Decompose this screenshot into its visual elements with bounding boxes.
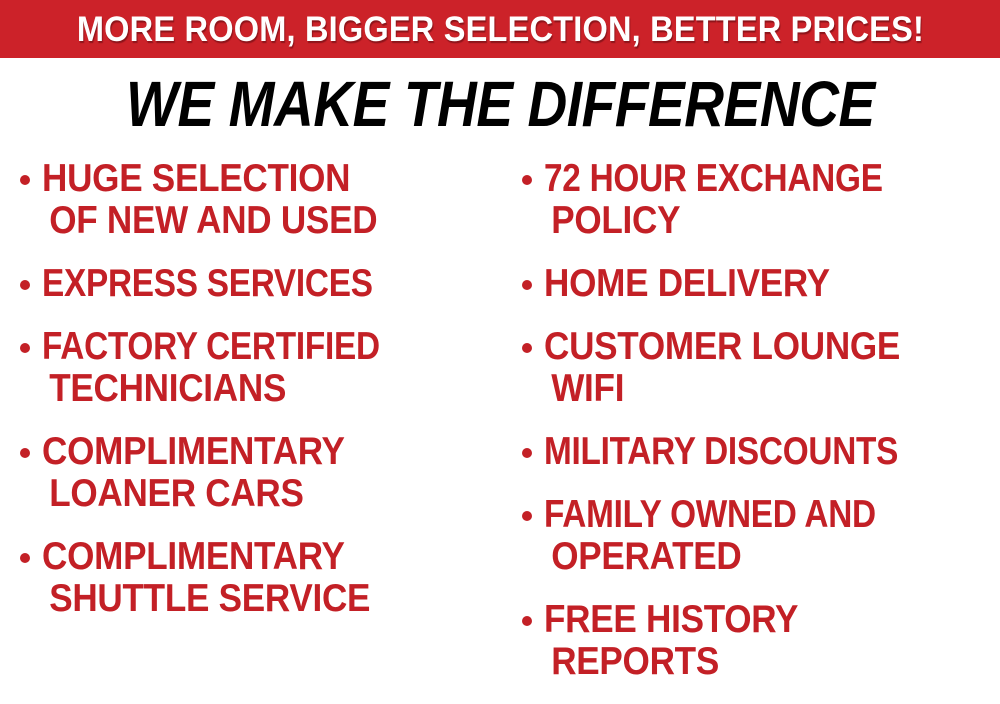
bullet-dot-icon [522,343,532,353]
benefit-item-text: EXPRESS SERVICES [42,263,500,305]
benefit-line: OPERATED [544,536,954,578]
bullet-dot-icon [522,175,532,185]
page-title: WE MAKE THE DIFFERENCE [126,72,875,136]
bullet-dot-icon [20,448,30,458]
benefit-line: CUSTOMER LOUNGE [544,326,954,368]
bullet-dot-icon [20,280,30,290]
promo-banner-text: MORE ROOM, BIGGER SELECTION, BETTER PRIC… [76,12,923,47]
benefit-line: FACTORY CERTIFIED [42,326,434,368]
benefit-item: EXPRESS SERVICES [20,263,500,305]
benefit-item-text: CUSTOMER LOUNGEWIFI [544,326,1000,410]
benefit-line: EXPRESS SERVICES [42,263,434,305]
bullet-dot-icon [522,616,532,626]
benefit-line: FAMILY OWNED AND [544,494,934,536]
benefit-line: TECHNICIANS [42,368,454,410]
benefit-item-text: 72 HOUR EXCHANGEPOLICY [544,158,1000,242]
benefit-line: FREE HISTORY [544,599,954,641]
benefit-line: WIFI [544,368,954,410]
benefits-columns: HUGE SELECTIONOF NEW AND USEDEXPRESS SER… [0,158,1000,694]
benefit-line: SHUTTLE SERVICE [42,578,454,620]
benefit-line: LOANER CARS [42,473,454,515]
benefit-item-text: HUGE SELECTIONOF NEW AND USED [42,158,500,242]
bullet-dot-icon [20,343,30,353]
benefit-line: HOME DELIVERY [544,263,954,305]
benefit-item-text: COMPLIMENTARYSHUTTLE SERVICE [42,536,500,620]
benefit-item: COMPLIMENTARYSHUTTLE SERVICE [20,536,500,620]
benefit-line: 72 HOUR EXCHANGE [544,158,934,200]
headline-container: WE MAKE THE DIFFERENCE [0,68,1000,140]
benefit-line: REPORTS [544,641,954,683]
benefit-line: OF NEW AND USED [42,200,454,242]
benefit-item-text: MILITARY DISCOUNTS [544,431,1000,473]
benefit-item: HOME DELIVERY [522,263,1000,305]
bullet-dot-icon [522,511,532,521]
benefits-column-left: HUGE SELECTIONOF NEW AND USEDEXPRESS SER… [0,158,500,641]
benefit-line: HUGE SELECTION [42,158,454,200]
benefit-item: MILITARY DISCOUNTS [522,431,1000,473]
benefit-item-text: HOME DELIVERY [544,263,1000,305]
benefit-item-text: FREE HISTORYREPORTS [544,599,1000,683]
benefit-line: MILITARY DISCOUNTS [544,431,934,473]
benefits-column-right: 72 HOUR EXCHANGEPOLICYHOME DELIVERYCUSTO… [500,158,1000,704]
bullet-dot-icon [522,280,532,290]
bullet-dot-icon [20,553,30,563]
benefit-item-text: COMPLIMENTARYLOANER CARS [42,431,500,515]
bullet-dot-icon [522,448,532,458]
benefit-item: FAMILY OWNED ANDOPERATED [522,494,1000,578]
benefit-item: FACTORY CERTIFIEDTECHNICIANS [20,326,500,410]
benefit-item-text: FACTORY CERTIFIEDTECHNICIANS [42,326,500,410]
benefit-item: COMPLIMENTARYLOANER CARS [20,431,500,515]
benefit-line: COMPLIMENTARY [42,536,454,578]
benefit-item: FREE HISTORYREPORTS [522,599,1000,683]
benefit-item: HUGE SELECTIONOF NEW AND USED [20,158,500,242]
benefit-item: CUSTOMER LOUNGEWIFI [522,326,1000,410]
bullet-dot-icon [20,175,30,185]
benefit-item-text: FAMILY OWNED ANDOPERATED [544,494,1000,578]
benefit-item: 72 HOUR EXCHANGEPOLICY [522,158,1000,242]
benefit-line: COMPLIMENTARY [42,431,454,473]
benefit-line: POLICY [544,200,954,242]
promo-banner: MORE ROOM, BIGGER SELECTION, BETTER PRIC… [0,0,1000,58]
